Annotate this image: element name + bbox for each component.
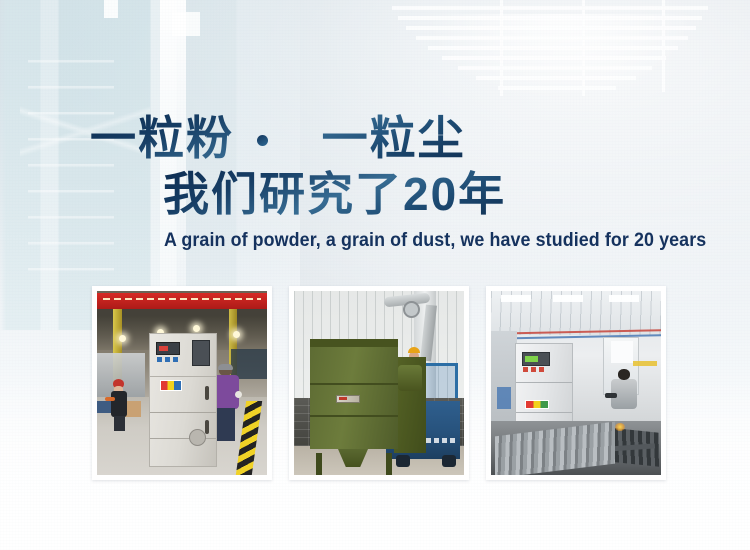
headline-line-1: 一粒粉 一粒尘 — [90, 112, 466, 164]
photo-frame-2[interactable] — [289, 286, 469, 480]
white-cabinet-workshop-photo — [491, 291, 661, 475]
headline-line-2: 我们研究了20年 — [163, 168, 506, 220]
photo-frame-1[interactable] — [92, 286, 272, 480]
green-dust-collector-photo — [294, 291, 464, 475]
photo-frame-3[interactable] — [486, 286, 666, 480]
gray-cabinet-factory-photo — [97, 291, 267, 475]
headline-dot-separator — [257, 135, 268, 146]
headline-subtitle: A grain of powder, a grain of dust, we h… — [164, 230, 706, 252]
headline-line1-part2: 一粒尘 — [322, 112, 466, 164]
banner-stage: 一粒粉 一粒尘 我们研究了20年 A grain of powder, a gr… — [0, 0, 750, 550]
photo-gallery — [92, 286, 666, 480]
headline-line1-part1: 一粒粉 — [90, 112, 234, 164]
